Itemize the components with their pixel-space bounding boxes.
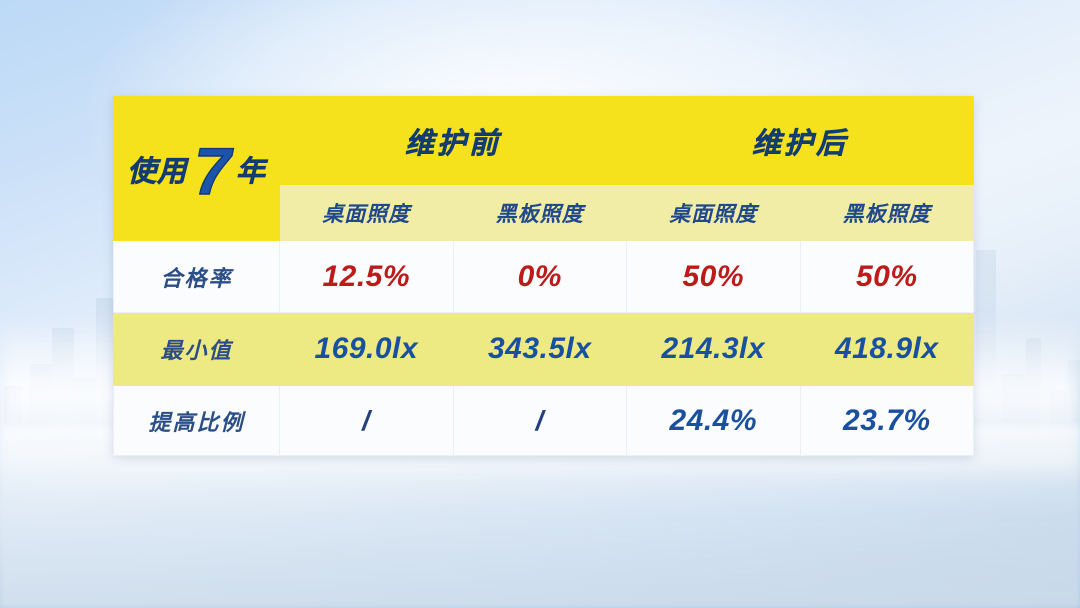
- cell-minimum-before-blackboard: 343.5lx: [453, 313, 627, 386]
- cell-pass-rate-before-desk: 12.5%: [280, 241, 454, 313]
- row-label-improvement: 提高比例: [114, 386, 280, 456]
- title-suffix: 年: [236, 148, 266, 190]
- cell-improvement-after-blackboard: 23.7%: [800, 386, 974, 456]
- cell-pass-rate-after-desk: 50%: [627, 241, 801, 313]
- title-number: 7: [194, 143, 231, 199]
- cell-improvement-before-blackboard: /: [453, 386, 627, 456]
- subheader-before-blackboard: 黑板照度: [453, 185, 627, 241]
- subheader-before-desk: 桌面照度: [280, 185, 454, 241]
- group-header-before: 维护前: [280, 97, 627, 185]
- data-table: 使用 7 年 维护前 维护后 桌面照度 黑板照度 桌面照度 黑板照度 合格率 1…: [113, 96, 974, 456]
- cell-pass-rate-before-blackboard: 0%: [453, 241, 627, 313]
- subheader-after-desk: 桌面照度: [627, 185, 801, 241]
- illuminance-comparison-table: 使用 7 年 维护前 维护后 桌面照度 黑板照度 桌面照度 黑板照度 合格率 1…: [113, 96, 973, 455]
- cell-improvement-before-desk: /: [280, 386, 454, 456]
- row-label-minimum: 最小值: [114, 313, 280, 386]
- cell-minimum-before-desk: 169.0lx: [280, 313, 454, 386]
- title-prefix: 使用: [127, 148, 187, 190]
- table-header-group-row: 使用 7 年 维护前 维护后: [114, 97, 974, 185]
- cell-minimum-after-desk: 214.3lx: [627, 313, 801, 386]
- subheader-after-blackboard: 黑板照度: [800, 185, 974, 241]
- group-header-after: 维护后: [627, 97, 974, 185]
- cell-pass-rate-after-blackboard: 50%: [800, 241, 974, 313]
- cell-improvement-after-desk: 24.4%: [627, 386, 801, 456]
- table-row: 合格率 12.5% 0% 50% 50%: [114, 241, 974, 313]
- table-row: 最小值 169.0lx 343.5lx 214.3lx 418.9lx: [114, 313, 974, 386]
- table-row: 提高比例 / / 24.4% 23.7%: [114, 386, 974, 456]
- cell-minimum-after-blackboard: 418.9lx: [800, 313, 974, 386]
- row-label-pass-rate: 合格率: [114, 241, 280, 313]
- table-title-cell: 使用 7 年: [114, 97, 280, 241]
